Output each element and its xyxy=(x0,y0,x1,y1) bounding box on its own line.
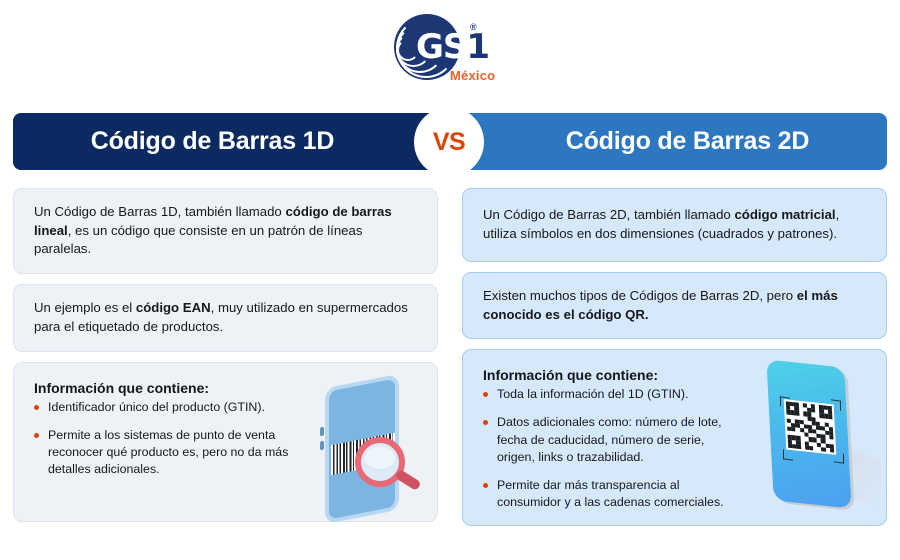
text-bold: código EAN xyxy=(136,300,211,315)
gs1-logo: GS1 ® México xyxy=(394,12,506,88)
card-2d-example-text: Existen muchos tipos de Códigos de Barra… xyxy=(483,287,866,324)
list-item: Permite dar más transparencia al consumi… xyxy=(483,477,731,511)
card-2d-definition: Un Código de Barras 2D, también llamado … xyxy=(462,188,887,262)
text-bold: código matricial xyxy=(734,207,835,222)
column-1d: Un Código de Barras 1D, también llamado … xyxy=(13,188,438,532)
vs-label: VS xyxy=(433,128,465,157)
card-2d-definition-text: Un Código de Barras 2D, también llamado … xyxy=(483,206,866,243)
phone-barcode-magnifier-icon xyxy=(287,375,427,523)
list-item: Toda la información del 1D (GTIN). xyxy=(483,386,731,403)
text-part: Un Código de Barras 2D, también llamado xyxy=(483,207,734,222)
card-1d-definition: Un Código de Barras 1D, también llamado … xyxy=(13,188,438,274)
header-banner-1d: Código de Barras 1D xyxy=(13,113,438,170)
gs1-wordmark: GS1 xyxy=(416,30,489,64)
qr-code-icon xyxy=(784,400,837,456)
phone-qr-code-icon xyxy=(736,362,876,510)
card-2d-info: Información que contiene: Toda la inform… xyxy=(462,349,887,526)
list-item: Datos adicionales como: número de lote, … xyxy=(483,414,731,465)
column-2d: Un Código de Barras 2D, también llamado … xyxy=(462,188,887,536)
registered-mark-icon: ® xyxy=(470,22,477,32)
info-bullets-2d: Toda la información del 1D (GTIN). Datos… xyxy=(483,386,731,511)
brand-logo-area: GS1 ® México xyxy=(0,0,900,100)
card-1d-example: Un ejemplo es el código EAN, muy utiliza… xyxy=(13,284,438,351)
text-part: Un Código de Barras 1D, también llamado xyxy=(34,204,285,219)
header-banner-2d: Código de Barras 2D xyxy=(462,113,887,170)
header-title-1d: Código de Barras 1D xyxy=(91,127,334,156)
info-bullets-1d: Identificador único del producto (GTIN).… xyxy=(34,399,304,478)
card-1d-info: Información que contiene: Identificador … xyxy=(13,362,438,522)
header-title-2d: Código de Barras 2D xyxy=(566,127,809,156)
list-item: Identificador único del producto (GTIN). xyxy=(34,399,304,416)
card-1d-definition-text: Un Código de Barras 1D, también llamado … xyxy=(34,203,417,259)
card-2d-example: Existen muchos tipos de Códigos de Barra… xyxy=(462,272,887,339)
text-part: Un ejemplo es el xyxy=(34,300,136,315)
logo-country-label: México xyxy=(450,68,495,83)
text-part: , es un código que consiste en un patrón… xyxy=(34,223,362,257)
list-item: Permite a los sistemas de punto de venta… xyxy=(34,427,304,478)
text-part: Existen muchos tipos de Códigos de Barra… xyxy=(483,288,797,303)
vs-badge: VS xyxy=(414,107,484,177)
card-1d-example-text: Un ejemplo es el código EAN, muy utiliza… xyxy=(34,299,417,336)
